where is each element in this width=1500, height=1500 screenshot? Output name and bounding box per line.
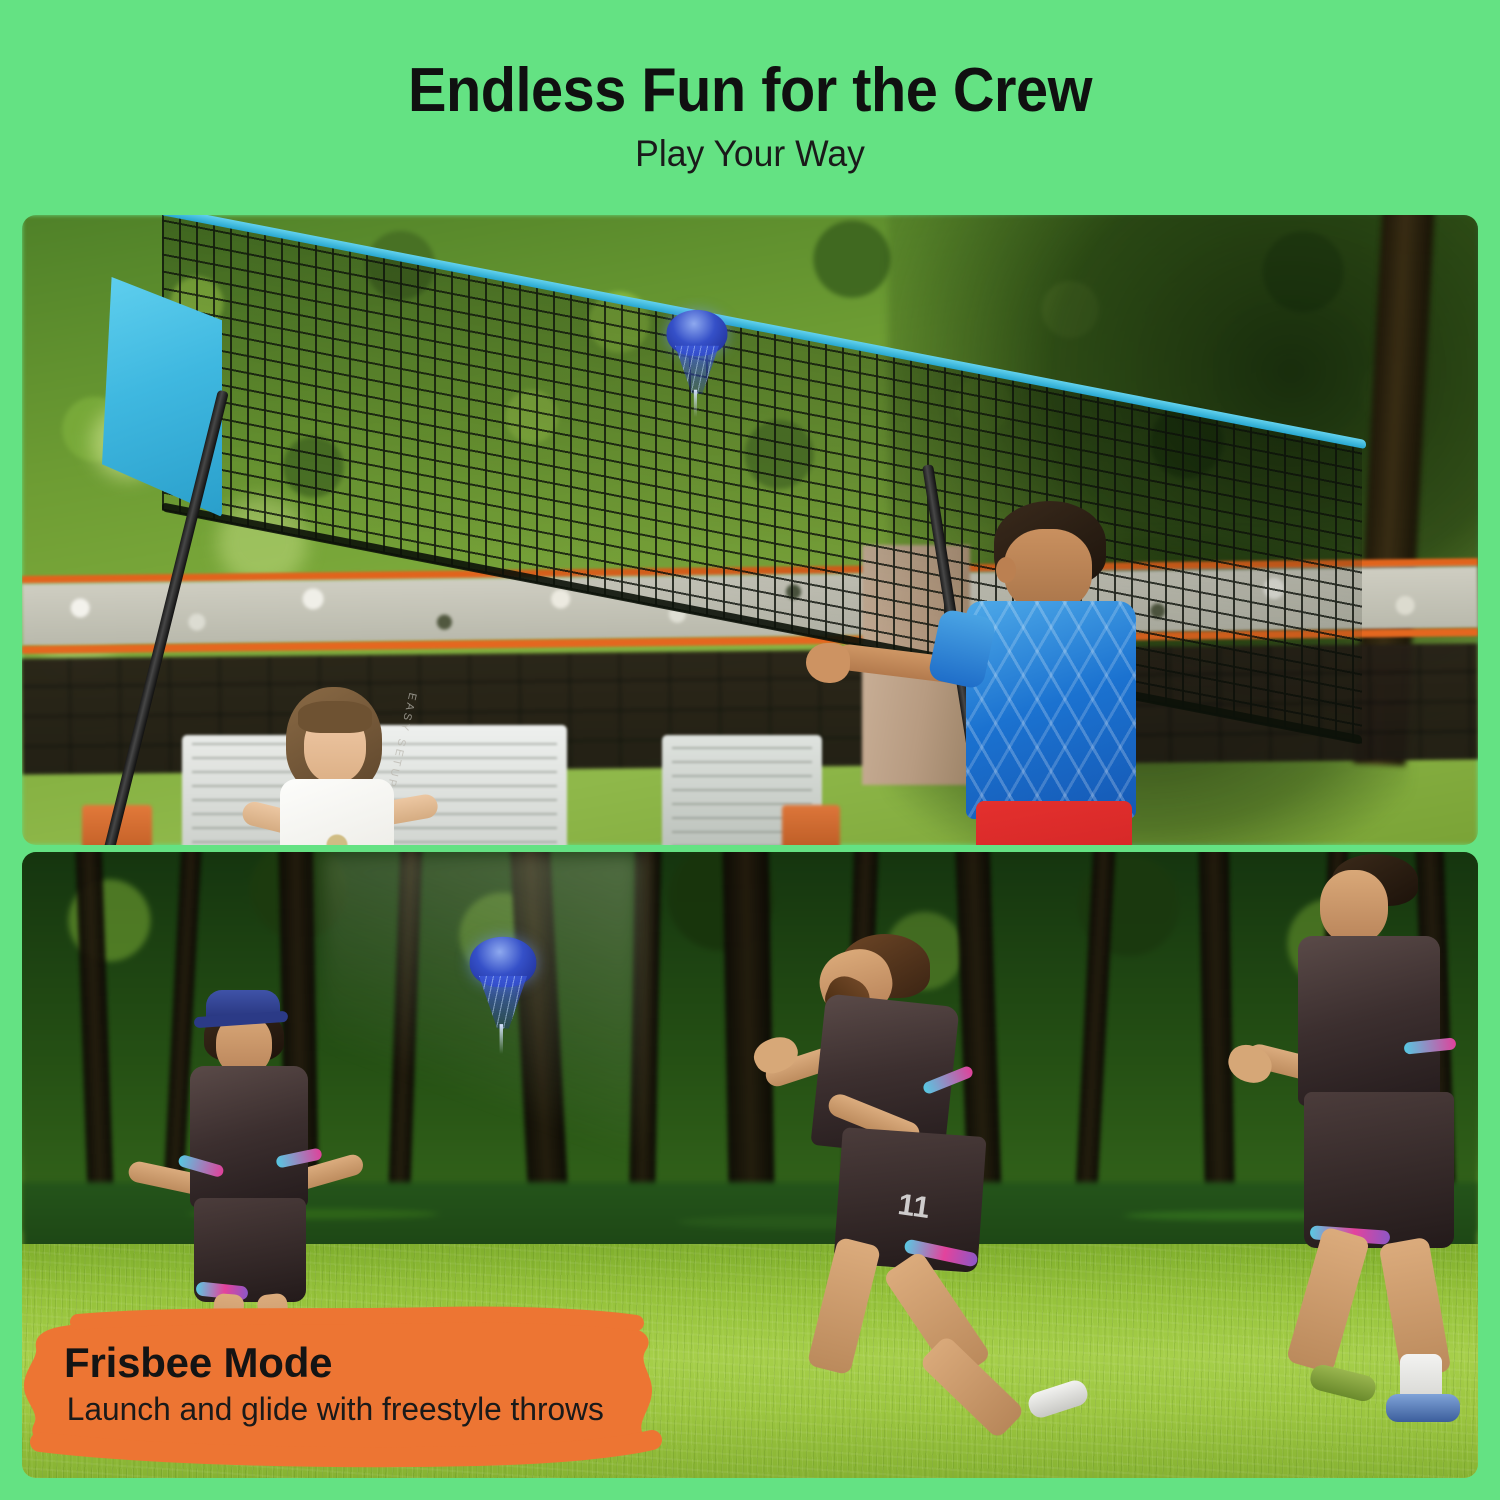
boy-hand [806, 643, 850, 683]
toy-tip [500, 1024, 503, 1054]
toy-tip [694, 390, 697, 417]
player-mid-leg-back [807, 1237, 882, 1376]
sun-light-beam [322, 852, 642, 1182]
scene-frisbee: 11 [22, 852, 1478, 1478]
player-right [1274, 854, 1478, 1414]
header: Endless Fun for the Crew Play Your Way [0, 0, 1500, 200]
boy-red-shorts [976, 801, 1132, 845]
panel-frisbee: 11 [22, 852, 1478, 1478]
girl-fringe [298, 701, 372, 733]
label-frisbee-text: Frisbee Mode Launch and glide with frees… [22, 1310, 660, 1428]
label-frisbee-subtitle: Launch and glide with freestyle throws [22, 1386, 657, 1428]
product-feature-image: Endless Fun for the Crew Play Your Way [0, 0, 1500, 1500]
page-title: Endless Fun for the Crew [53, 0, 1448, 124]
girl-tee-graphic [310, 819, 364, 845]
flying-toy-volleyball [667, 310, 728, 356]
page-subtitle: Play Your Way [30, 124, 1470, 174]
flying-toy-frisbee [470, 937, 537, 988]
player-right-jersey [1298, 936, 1440, 1106]
panel-volleyball: EASY SETUP [22, 215, 1478, 845]
boy-player [952, 501, 1152, 845]
player-right-leg-back [1286, 1226, 1371, 1374]
label-frisbee-title: Frisbee Mode [22, 1310, 660, 1386]
player-right-shorts [1304, 1092, 1454, 1248]
player-mid: 11 [782, 934, 1022, 1404]
boy-head [1004, 529, 1092, 611]
player-right-shoe [1386, 1394, 1460, 1422]
label-frisbee-mode: Frisbee Mode Launch and glide with frees… [22, 1310, 660, 1470]
player-right-shoe-back [1308, 1362, 1378, 1403]
player-right-head [1320, 870, 1388, 944]
player-left [172, 992, 342, 1332]
boy-ear [996, 557, 1016, 583]
girl-player [258, 687, 418, 845]
flower-pot [782, 805, 840, 845]
scene-volleyball: EASY SETUP [22, 215, 1478, 845]
player-mid-jersey-number: 11 [896, 1188, 932, 1226]
player-left-jersey [190, 1066, 308, 1208]
